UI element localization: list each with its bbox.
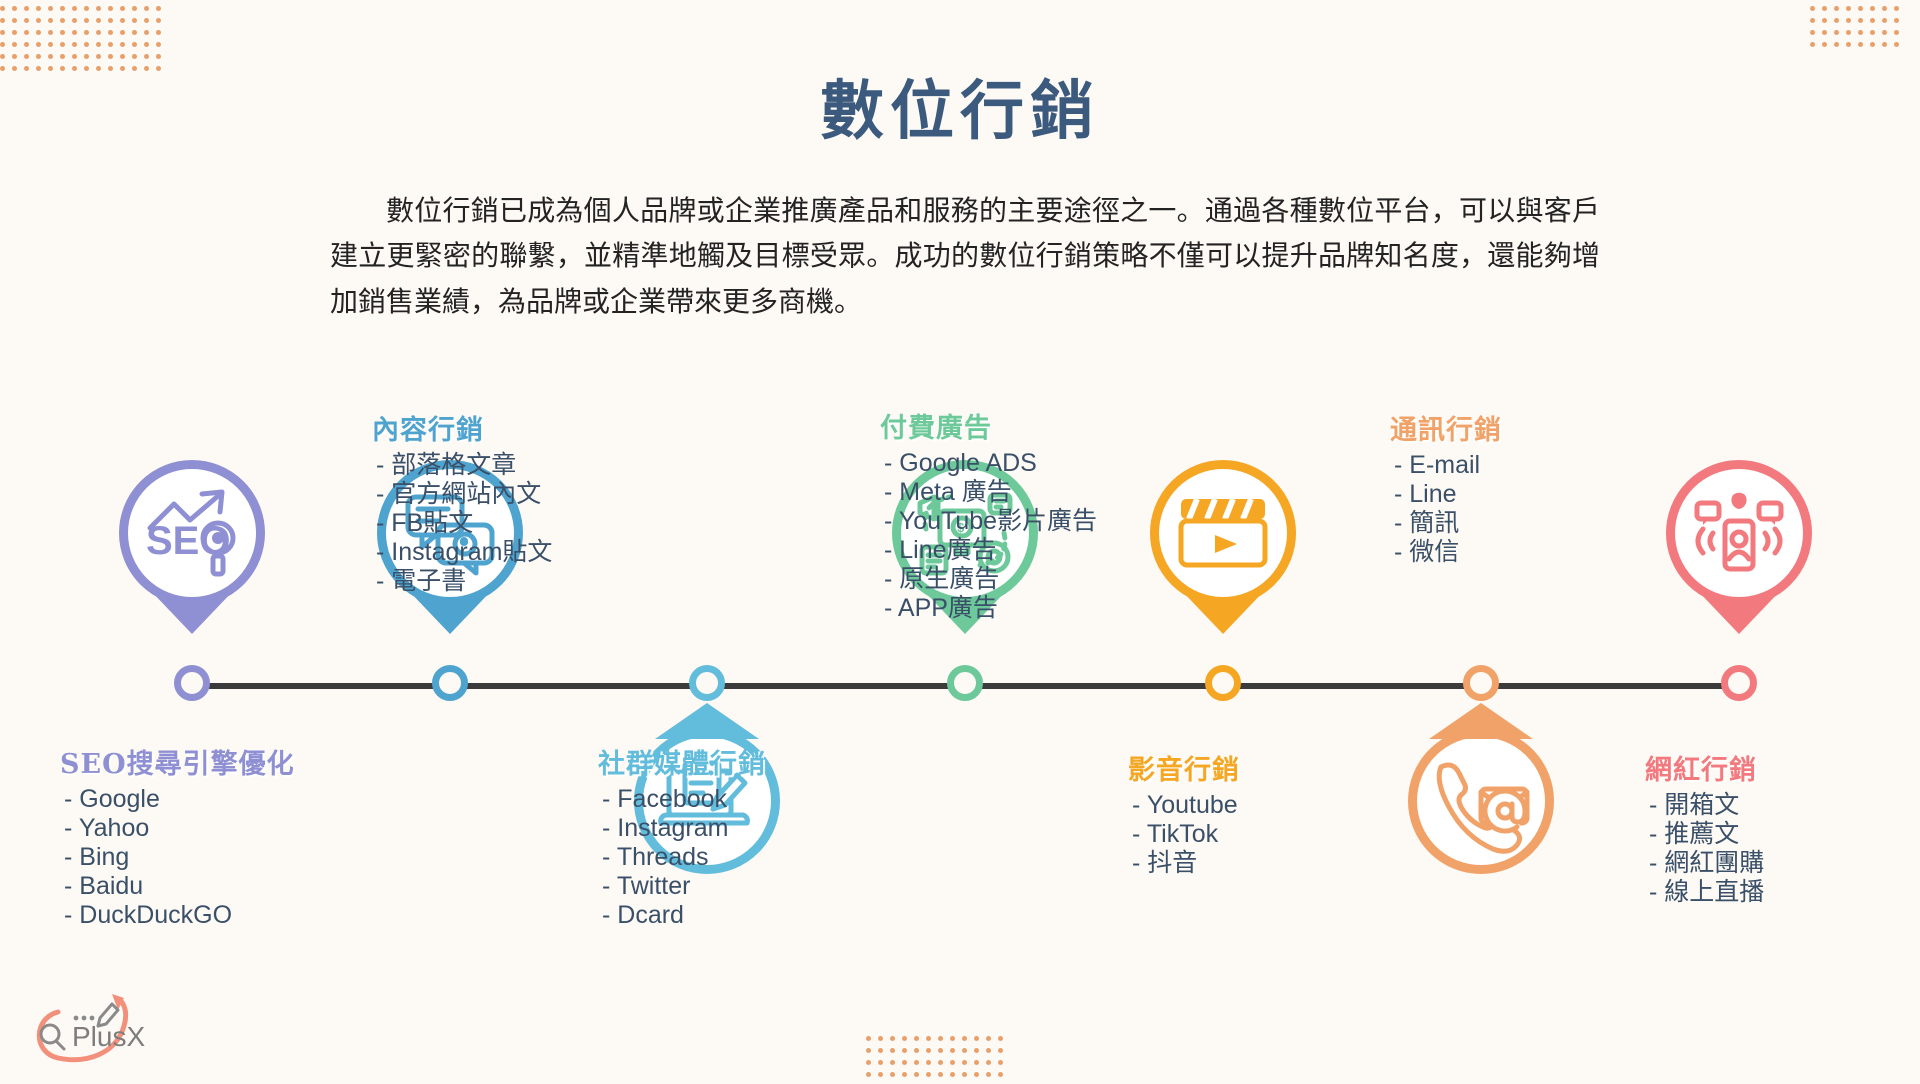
timeline-node-seo bbox=[174, 665, 210, 701]
timeline-node-content bbox=[432, 665, 468, 701]
section-list-video: - Youtube- TikTok- 抖音 bbox=[1128, 791, 1240, 878]
section-content: 內容行銷- 部落格文章- 官方網站內文- FB貼文- Instagram貼文- … bbox=[372, 408, 552, 596]
list-item: - Bing bbox=[60, 843, 295, 872]
list-item: - Dcard bbox=[598, 901, 766, 930]
section-paidads: 付費廣告- Google ADS- Meta 廣告- YouTube影片廣告- … bbox=[880, 406, 1097, 623]
section-messaging: 通訊行銷- E-mail- Line- 簡訊- 微信 bbox=[1390, 408, 1502, 567]
list-item: - 微信 bbox=[1390, 538, 1502, 567]
list-item: - 電子書 bbox=[372, 567, 552, 596]
section-list-social: - Facebook- Instagram- Threads- Twitter-… bbox=[598, 785, 766, 930]
list-item: - E-mail bbox=[1390, 451, 1502, 480]
list-item: - Line bbox=[1390, 480, 1502, 509]
decorative-dots-top-right bbox=[1810, 6, 1906, 54]
section-title-influencer: 網紅行銷 bbox=[1645, 748, 1764, 787]
marker-video bbox=[1150, 460, 1296, 634]
section-list-influencer: - 開箱文- 推薦文- 網紅團購- 線上直播 bbox=[1645, 791, 1764, 907]
list-item: - 抖音 bbox=[1128, 849, 1240, 878]
timeline-node-paidads bbox=[947, 665, 983, 701]
list-item: - Google bbox=[60, 785, 295, 814]
list-item: - Instagram bbox=[598, 814, 766, 843]
decorative-dots-bottom bbox=[866, 1036, 1010, 1084]
brand-name: PlusX bbox=[72, 1021, 145, 1052]
section-seo: SEO搜尋引擎優化- Google- Yahoo- Bing- Baidu- D… bbox=[60, 742, 295, 930]
list-item: - 開箱文 bbox=[1645, 791, 1764, 820]
list-item: - 簡訊 bbox=[1390, 509, 1502, 538]
section-influencer: 網紅行銷- 開箱文- 推薦文- 網紅團購- 線上直播 bbox=[1645, 748, 1764, 907]
list-item: - FB貼文 bbox=[372, 509, 552, 538]
section-title-messaging: 通訊行銷 bbox=[1390, 408, 1502, 447]
list-item: - Youtube bbox=[1128, 791, 1240, 820]
list-item: - 原生廣告 bbox=[880, 565, 1097, 594]
list-item: - 官方網站內文 bbox=[372, 480, 552, 509]
marker-messaging bbox=[1408, 728, 1554, 874]
section-social: 社群媒體行銷- Facebook- Instagram- Threads- Tw… bbox=[598, 742, 766, 930]
timeline-node-video bbox=[1205, 665, 1241, 701]
phone-heart-chat-icon bbox=[1666, 460, 1812, 606]
seo-chart-magnifier-icon: SEO bbox=[119, 460, 265, 606]
section-list-content: - 部落格文章- 官方網站內文- FB貼文- Instagram貼文- 電子書 bbox=[372, 451, 552, 596]
list-item: - Threads bbox=[598, 843, 766, 872]
list-item: - Facebook bbox=[598, 785, 766, 814]
plusx-logo: PlusX bbox=[24, 990, 174, 1070]
list-item: - 推薦文 bbox=[1645, 820, 1764, 849]
list-item: - TikTok bbox=[1128, 820, 1240, 849]
phone-envelope-at-icon bbox=[1431, 759, 1531, 843]
section-title-seo: SEO搜尋引擎優化 bbox=[60, 742, 295, 781]
list-item: - Meta 廣告 bbox=[880, 478, 1097, 507]
section-list-paidads: - Google ADS- Meta 廣告- YouTube影片廣告- Line… bbox=[880, 449, 1097, 623]
list-item: - Line廣告 bbox=[880, 536, 1097, 565]
list-item: - 網紅團購 bbox=[1645, 849, 1764, 878]
list-item: - Google ADS bbox=[880, 449, 1097, 478]
section-title-content: 內容行銷 bbox=[372, 408, 552, 447]
timeline-node-messaging bbox=[1463, 665, 1499, 701]
section-title-social: 社群媒體行銷 bbox=[598, 742, 766, 781]
list-item: - 部落格文章 bbox=[372, 451, 552, 480]
list-item: - DuckDuckGO bbox=[60, 901, 295, 930]
list-item: - Baidu bbox=[60, 872, 295, 901]
list-item: - Twitter bbox=[598, 872, 766, 901]
list-item: - YouTube影片廣告 bbox=[880, 507, 1097, 536]
section-video: 影音行銷- Youtube- TikTok- 抖音 bbox=[1128, 748, 1240, 878]
infographic-canvas: 數位行銷 數位行銷已成為個人品牌或企業推廣產品和服務的主要途徑之一。通過各種數位… bbox=[0, 0, 1920, 1080]
section-title-paidads: 付費廣告 bbox=[880, 406, 1097, 445]
marker-seo: SEO bbox=[119, 460, 265, 634]
list-item: - APP廣告 bbox=[880, 594, 1097, 623]
list-item: - 線上直播 bbox=[1645, 878, 1764, 907]
intro-paragraph: 數位行銷已成為個人品牌或企業推廣產品和服務的主要途徑之一。通過各種數位平台，可以… bbox=[330, 188, 1600, 324]
section-list-messaging: - E-mail- Line- 簡訊- 微信 bbox=[1390, 451, 1502, 567]
video-clapper-play-icon bbox=[1150, 460, 1296, 606]
list-item: - Yahoo bbox=[60, 814, 295, 843]
marker-influencer bbox=[1666, 460, 1812, 634]
section-title-video: 影音行銷 bbox=[1128, 748, 1240, 787]
timeline-node-social bbox=[689, 665, 725, 701]
timeline-node-influencer bbox=[1721, 665, 1757, 701]
section-list-seo: - Google- Yahoo- Bing- Baidu- DuckDuckGO bbox=[60, 785, 295, 930]
list-item: - Instagram貼文 bbox=[372, 538, 552, 567]
page-title: 數位行銷 bbox=[0, 60, 1920, 152]
